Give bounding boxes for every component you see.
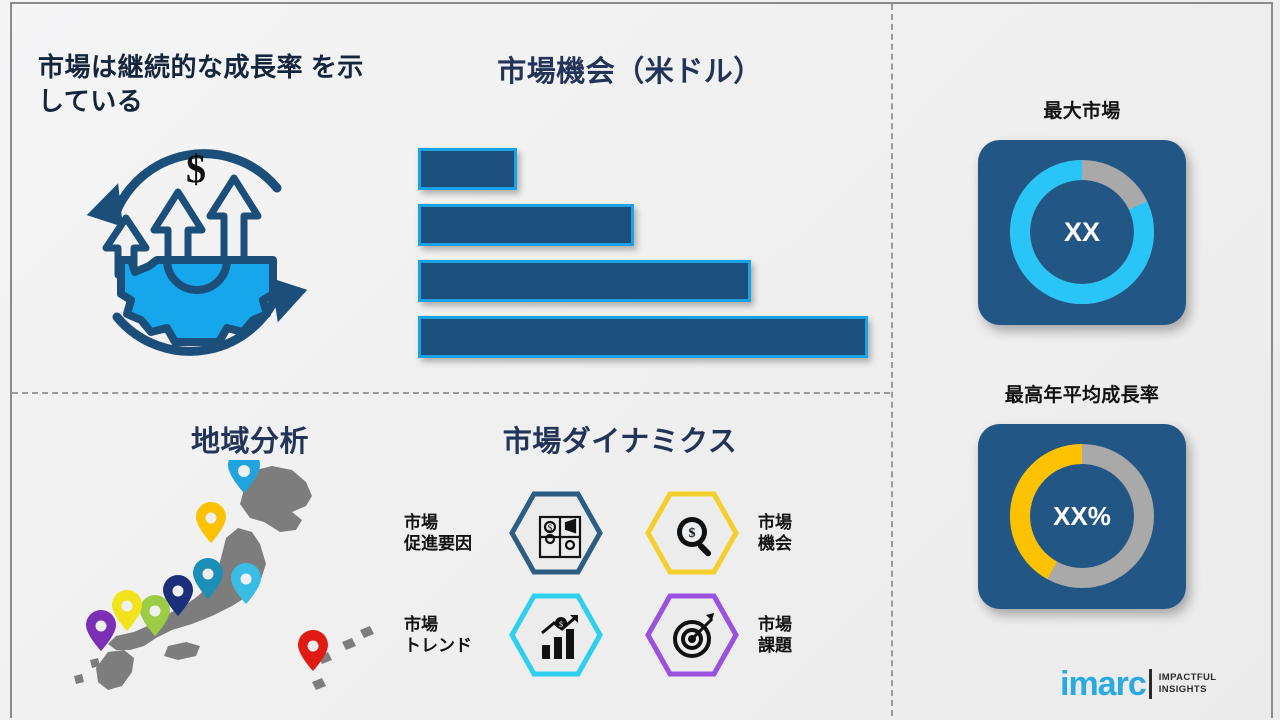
puzzle-pieces-icon: $ (508, 490, 604, 576)
pin-okinawa[interactable] (298, 630, 328, 671)
frame-top-border (10, 2, 1272, 4)
growth-panel-title: 市場は継続的な成長率 を示している (38, 50, 388, 119)
vertical-dashed-divider (891, 4, 893, 716)
logo-tagline: IMPACTFUL INSIGHTS (1159, 672, 1217, 696)
metric-title-1: 最大市場 (942, 96, 1222, 123)
opportunity-bar-2 (418, 204, 634, 246)
svg-text:$: $ (689, 526, 696, 541)
imarc-logo: imarc IMPACTFUL INSIGHTS (1060, 662, 1250, 706)
dynamics-item-label: 市場 機会 (748, 512, 844, 555)
metric-card-2: XX% (978, 424, 1186, 609)
logo-divider (1149, 669, 1152, 699)
target-dart-icon (644, 592, 740, 678)
japan-map (60, 460, 390, 700)
dynamics-item-2[interactable]: 市場 機会$ (644, 490, 844, 576)
magnifier-dollar-icon: $ (644, 490, 740, 576)
pin-shikoku[interactable] (112, 590, 142, 631)
dollar-symbol: $ (186, 146, 206, 191)
dynamics-item-1[interactable]: 市場 促進要因$ (404, 490, 604, 576)
logo-tagline-line1: IMPACTFUL (1159, 672, 1217, 684)
opportunity-bar-chart (418, 148, 888, 358)
region-panel-title: 地域分析 (120, 418, 380, 460)
metric-donut-1 (978, 140, 1186, 325)
dynamics-item-label: 市場 促進要因 (404, 512, 500, 555)
logo-tagline-line2: INSIGHTS (1159, 684, 1217, 696)
dynamics-item-label: 市場 トレンド (404, 614, 500, 657)
dynamics-item-3[interactable]: 市場 トレンド$ (404, 592, 604, 678)
slide-canvas: 市場は継続的な成長率 を示している $ 市場機会（米ドル） (0, 0, 1280, 720)
dynamics-item-label: 市場 課題 (748, 614, 844, 657)
growth-gear-arrows-icon: $ (72, 130, 322, 375)
svg-text:$: $ (559, 620, 563, 629)
svg-text:$: $ (548, 523, 553, 533)
opportunity-bar-1 (418, 148, 517, 190)
dynamics-panel-title: 市場ダイナミクス (400, 418, 840, 460)
opportunity-panel-title: 市場機会（米ドル） (420, 48, 840, 90)
pin-tohoku[interactable] (196, 502, 226, 543)
frame-right-border (1271, 2, 1273, 718)
dynamics-item-4[interactable]: 市場 課題 (644, 592, 844, 678)
metric-title-2: 最高年平均成長率 (942, 380, 1222, 407)
bar-chart-growth-icon: $ (508, 592, 604, 678)
opportunity-bar-4 (418, 316, 868, 358)
metric-donut-2 (978, 424, 1186, 609)
metric-card-1: XX (978, 140, 1186, 325)
horizontal-dashed-divider (12, 392, 890, 394)
frame-left-border (10, 2, 12, 718)
logo-wordmark: imarc (1060, 667, 1146, 701)
opportunity-bar-3 (418, 260, 751, 302)
